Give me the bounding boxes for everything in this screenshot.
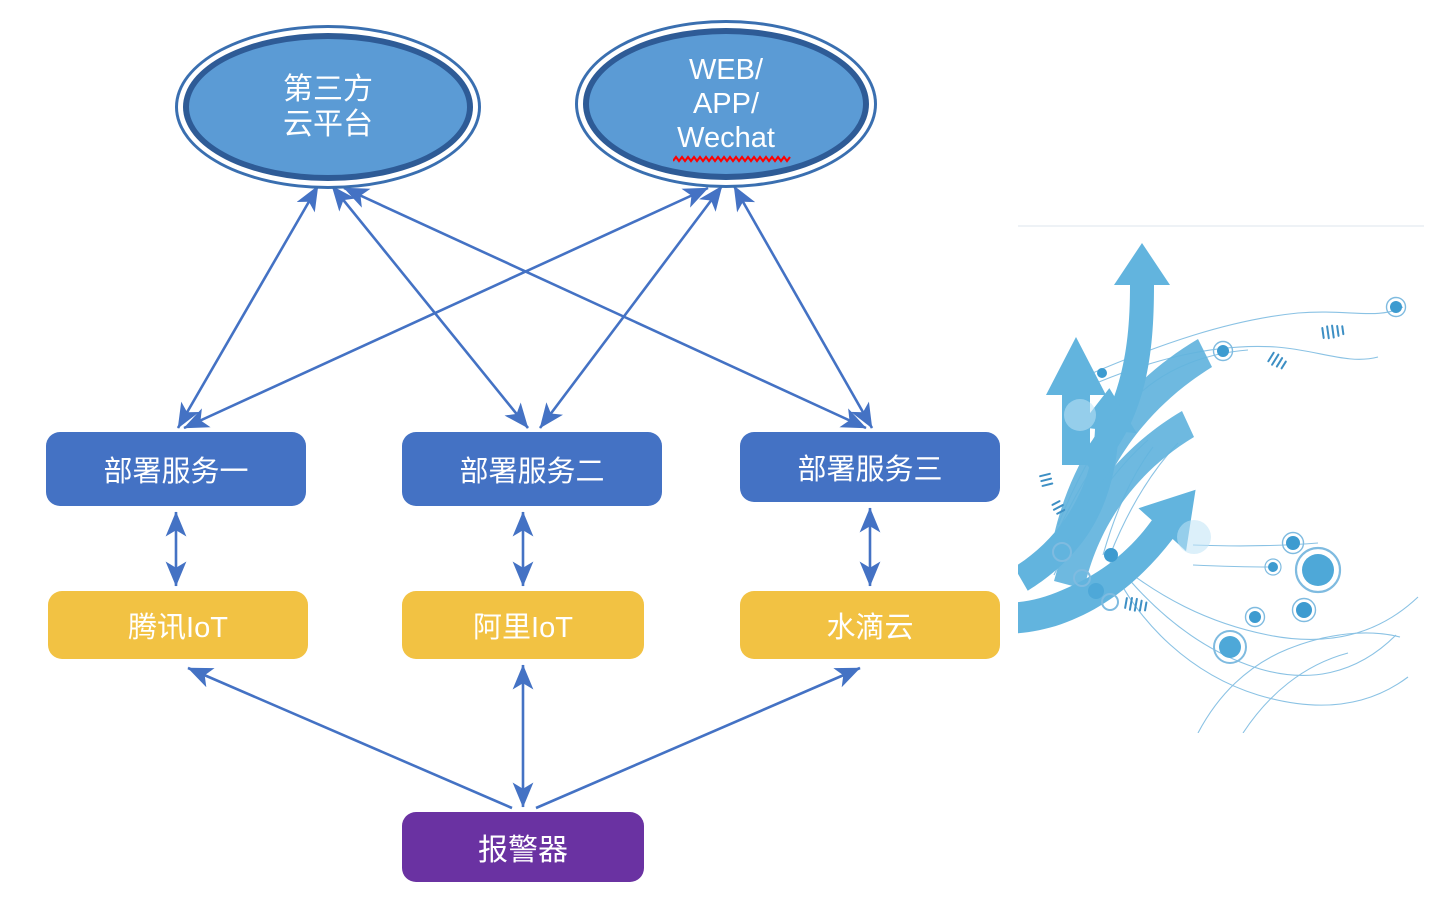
- edge-service2-cloud2: [540, 186, 722, 428]
- cloud-label-third-party: 第三方 云平台: [189, 72, 467, 143]
- edge-service3-cloud2: [734, 186, 872, 428]
- service-box-1-label: 部署服务一: [103, 448, 248, 490]
- edge-service1-cloud1: [178, 186, 318, 428]
- service-box-3-label: 部署服务三: [797, 446, 942, 488]
- iot-box-shuidi-label: 水滴云: [826, 604, 913, 646]
- cloud-label-web-app-wechat: WEB/ APP/ Wechat: [589, 53, 863, 156]
- service-box-2-label: 部署服务二: [459, 448, 604, 490]
- cloud-node-third-party[interactable]: 第三方 云平台: [183, 33, 473, 181]
- iot-box-tencent-label: 腾讯IoT: [128, 604, 228, 646]
- cloud-node-web-app-wechat[interactable]: WEB/ APP/ Wechat: [583, 28, 869, 180]
- edge-alarm-iot1: [188, 668, 512, 808]
- alarm-box[interactable]: 报警器: [402, 812, 644, 882]
- edge-service3-cloud1: [344, 188, 866, 428]
- edge-service2-cloud1: [332, 186, 528, 428]
- alarm-box-label: 报警器: [478, 825, 568, 869]
- iot-box-alibaba-label: 阿里IoT: [473, 604, 573, 646]
- iot-box-tencent[interactable]: 腾讯IoT: [48, 591, 308, 659]
- iot-box-alibaba[interactable]: 阿里IoT: [402, 591, 644, 659]
- tech-arrows-graphic: [1018, 225, 1424, 733]
- service-box-2[interactable]: 部署服务二: [402, 432, 662, 506]
- iot-box-shuidi[interactable]: 水滴云: [740, 591, 1000, 659]
- service-box-3[interactable]: 部署服务三: [740, 432, 1000, 502]
- service-box-1[interactable]: 部署服务一: [46, 432, 306, 506]
- diagram-canvas: 第三方 云平台 WEB/ APP/ Wechat 部署服务一 部署服务二 部署服…: [0, 0, 1446, 904]
- edge-alarm-iot3: [536, 668, 860, 808]
- edge-service1-cloud2: [184, 188, 708, 428]
